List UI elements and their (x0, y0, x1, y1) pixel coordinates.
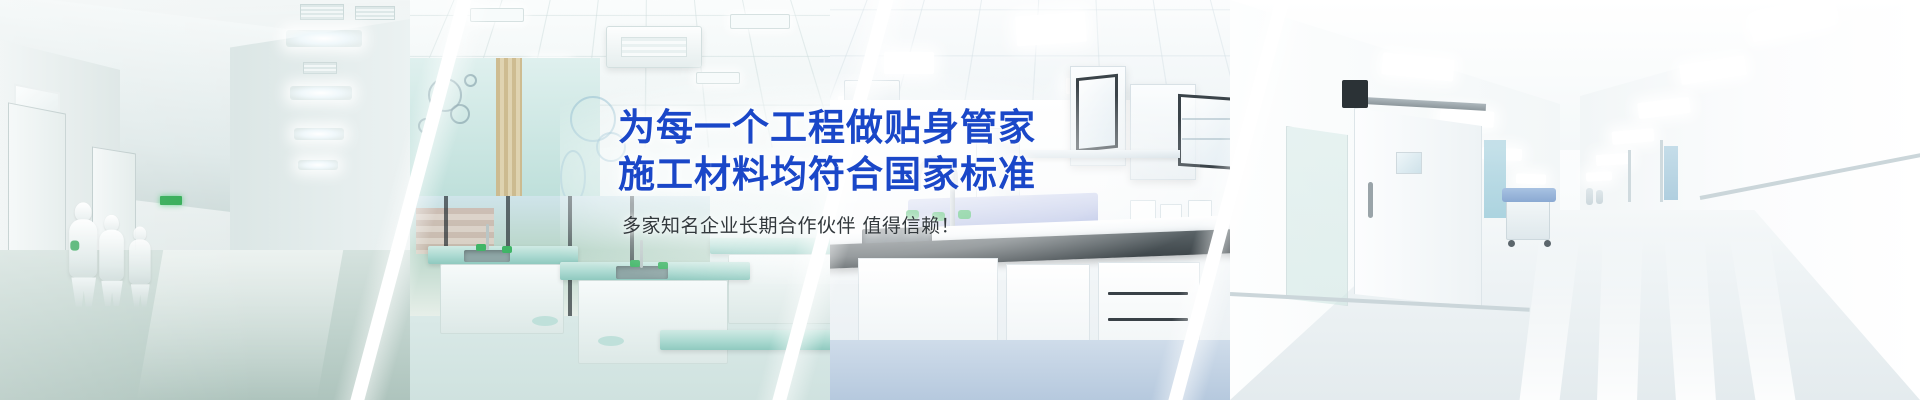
cart-wheel-1 (1508, 240, 1515, 247)
corridor-haze (0, 0, 470, 400)
panel-hospital-corridor (1230, 0, 1920, 400)
cabinet-shelf-2 (1182, 138, 1236, 140)
ceiling-ac-unit (606, 26, 702, 68)
banner-copy-block: 为每一个工程做贴身管家 施工材料均符合国家标准 多家知名企业长期合作伙伴 值得信… (618, 104, 1036, 239)
panel-cleanroom-corridor (0, 0, 470, 400)
gas-valve-4 (658, 262, 668, 269)
cabinet-shelf-1 (1182, 118, 1236, 120)
sliding-door-window (1396, 152, 1422, 174)
bench-faucet-1 (486, 224, 489, 250)
gas-valve-1 (476, 244, 486, 251)
headline-line-2: 施工材料均符合国家标准 (618, 151, 1036, 198)
lab-stool-2 (598, 336, 624, 346)
banner-subline: 多家知名企业长期合作伙伴 值得信赖！ (622, 213, 1036, 240)
floor-light-reflection-2 (1597, 230, 1643, 400)
ceiling-light-panel-3 (696, 72, 740, 84)
corridor-glass-partition (1286, 126, 1348, 306)
corridor-wall-accent (1484, 140, 1506, 218)
drawer-handle-1 (1108, 292, 1188, 295)
corridor-strip-light-5 (1596, 153, 1631, 166)
hero-banner: 为每一个工程做贴身管家 施工材料均符合国家标准 多家知名企业长期合作伙伴 值得信… (0, 0, 1920, 400)
cart-wheel-2 (1544, 240, 1551, 247)
cleanroom-scene (0, 0, 470, 400)
cabinet-glass-door-1 (1076, 74, 1118, 152)
ceiling-light-panel-2 (730, 14, 790, 29)
ceiling-led-panel-2 (884, 52, 934, 74)
sliding-door-handle (1368, 182, 1373, 218)
lab-stool-1 (532, 316, 558, 326)
bench-faucet-2 (640, 240, 643, 268)
molecule-decal-4 (464, 74, 477, 87)
medical-cart (1506, 196, 1550, 240)
corridor-strip-light-10 (1516, 173, 1546, 184)
corridor-strip-light-6 (1586, 171, 1612, 181)
sliding-door-motor (1342, 80, 1368, 108)
reagent-shelf (1020, 150, 1180, 158)
gas-valve-3 (630, 260, 640, 267)
airtight-sliding-door (1354, 108, 1482, 308)
gurney-mattress (1502, 188, 1556, 202)
far-door-jamb-1 (1628, 150, 1631, 202)
far-door-jamb-2 (1660, 140, 1663, 202)
lab-bench-base-2 (578, 280, 728, 364)
drawer-handle-2 (1108, 318, 1188, 321)
far-blue-door (1664, 146, 1678, 200)
gas-valve-2 (502, 246, 512, 253)
headline-line-1: 为每一个工程做贴身管家 (618, 104, 1036, 151)
ceiling-light-panel-1 (470, 8, 524, 22)
blue-vinyl-floor (830, 340, 1270, 400)
distant-person-1 (1586, 188, 1593, 205)
ceiling-led-panel-1 (1015, 12, 1087, 47)
hospital-corridor-scene (1230, 0, 1920, 400)
molecule-decal-2 (450, 104, 470, 124)
distant-person-2 (1596, 190, 1603, 204)
